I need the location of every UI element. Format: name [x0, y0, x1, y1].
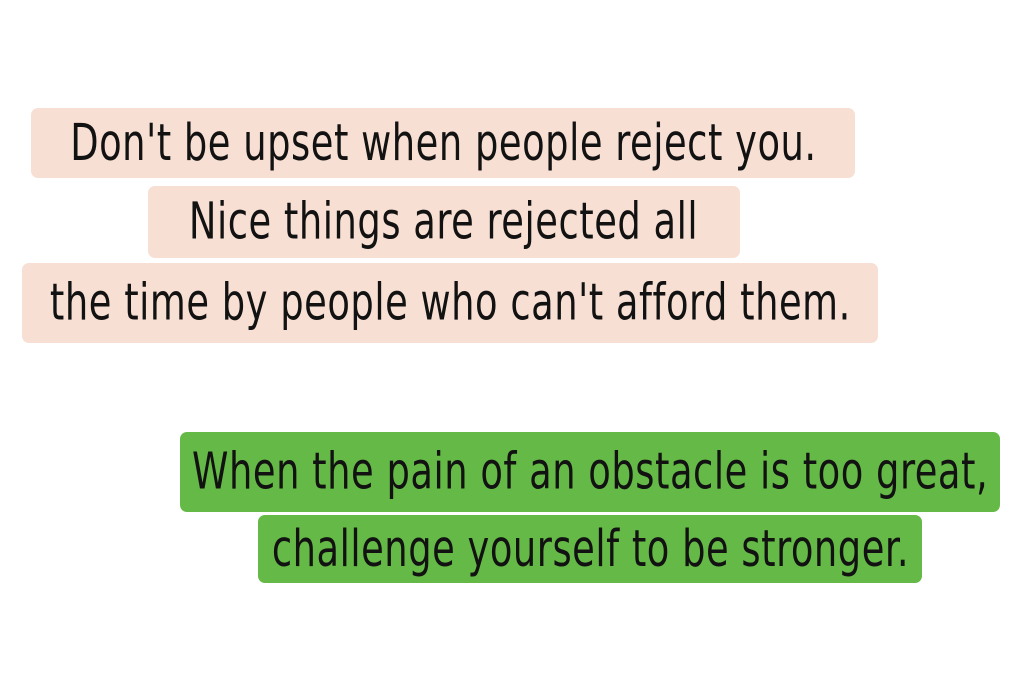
quote-one-line-3-highlight: the time by people who can't afford them…	[22, 263, 878, 343]
quote-one-line-2-highlight: Nice things are rejected all	[148, 186, 740, 258]
quote-graphic-canvas: Don't be upset when people reject you. N…	[0, 0, 1024, 683]
quote-two-line-1-text: When the pain of an obstacle is too grea…	[192, 447, 988, 498]
quote-one-line-1-text: Don't be upset when people reject you.	[70, 118, 816, 169]
quote-one-line-3-text: the time by people who can't afford them…	[50, 278, 851, 329]
quote-two-line-1-highlight: When the pain of an obstacle is too grea…	[180, 432, 1000, 512]
quote-two-line-2-highlight: challenge yourself to be stronger.	[258, 515, 922, 583]
quote-one-line-2-text: Nice things are rejected all	[189, 197, 698, 248]
quote-one-line-1-highlight: Don't be upset when people reject you.	[31, 108, 855, 178]
quote-two-line-2-text: challenge yourself to be stronger.	[271, 524, 908, 575]
